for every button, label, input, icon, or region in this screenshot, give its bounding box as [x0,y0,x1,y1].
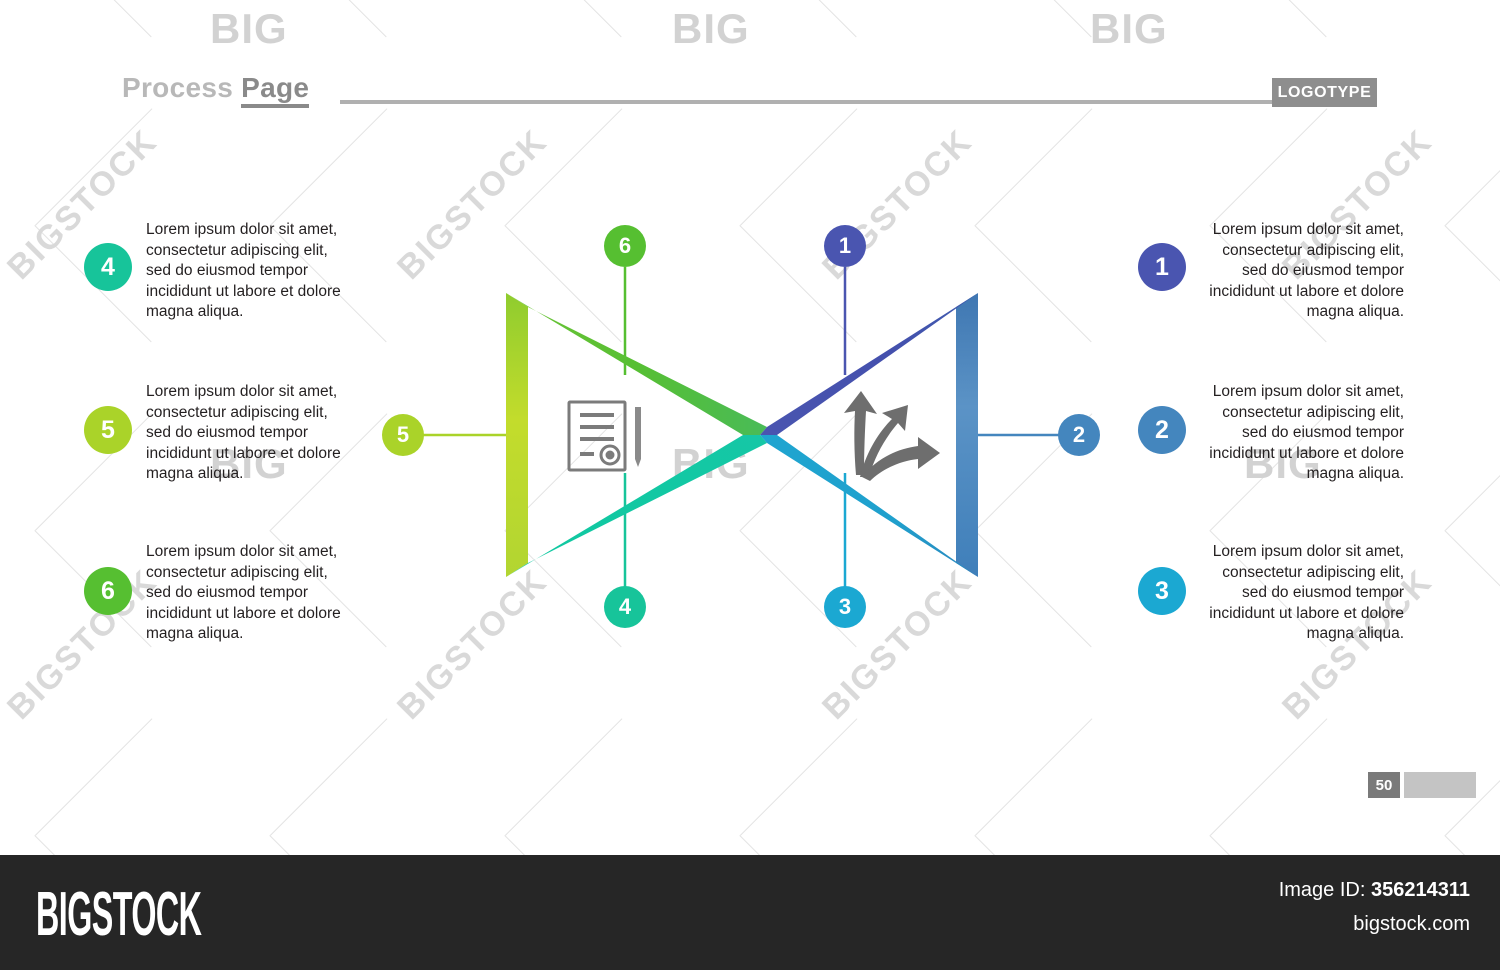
watermark-line [1444,225,1500,342]
diagram-marker-2[interactable]: 2 [1058,414,1100,456]
process-bowtie-diagram: 6 1 5 2 4 3 [330,215,1170,645]
watermark-line [34,0,151,37]
watermark-big: BIG [1090,5,1168,53]
watermark-line [1444,0,1500,37]
left-vertical-bar [506,293,528,577]
bigstock-logo: BIGSTOCK [36,879,201,950]
page-number-bar [1404,772,1476,798]
page-title-part1: Process [122,72,241,103]
slide-header: Process Page [122,72,1380,114]
header-divider [340,100,1367,104]
watermark-line [975,108,1092,225]
site-url: bigstock.com [1353,913,1470,936]
logotype-badge: LOGOTYPE [1272,78,1377,107]
watermark-line [35,108,152,225]
badge-number-4[interactable]: 4 [84,243,132,291]
watermark-bigstock: BIGSTOCK [0,562,165,727]
watermark-line [739,835,856,855]
watermark-line [1209,835,1326,855]
page-title: Process Page [122,72,309,104]
stock-footer: BIGSTOCK Image ID: 356214311 bigstock.co… [0,855,1500,970]
image-id-label: Image ID: [1279,879,1371,901]
slide-content: BIGBIGBIGBIGBIGBIGBIGSTOCKBIGSTOCKBIGSTO… [0,0,1500,855]
image-id-value: 356214311 [1371,879,1470,901]
watermark-line [740,718,857,835]
watermark-line [34,835,151,855]
page-title-part2: Page [241,72,309,108]
watermark-big: BIG [210,5,288,53]
diagram-marker-5[interactable]: 5 [382,414,424,456]
watermark-line [35,718,152,835]
watermark-line [1444,835,1500,855]
watermark-line [1445,413,1500,530]
watermark-line [974,835,1091,855]
watermark-line [1210,108,1327,225]
right-vertical-bar [956,293,978,577]
watermark-line [269,0,386,37]
diagram-marker-6[interactable]: 6 [604,225,646,267]
watermark-line [1210,718,1327,835]
watermark-line [505,108,622,225]
watermark-line [740,108,857,225]
watermark-line [739,0,856,37]
watermark-bigstock: BIGSTOCK [0,122,165,287]
watermark-line [1445,108,1500,225]
diagram-marker-3[interactable]: 3 [824,586,866,628]
bowtie-svg [330,215,1170,645]
watermark-line [1209,0,1326,37]
right-top-edge [760,293,978,435]
diverging-arrows-icon [844,391,940,481]
image-id: Image ID: 356214311 [1279,879,1470,902]
watermark-line [504,835,621,855]
watermark-line [505,718,622,835]
watermark-line [269,835,386,855]
slide-canvas: BIGBIGBIGBIGBIGBIGBIGSTOCKBIGSTOCKBIGSTO… [0,0,1500,970]
watermark-line [270,108,387,225]
watermark-line [504,0,621,37]
page-number-indicator: 50 [1368,772,1476,798]
page-number-value: 50 [1368,772,1400,798]
diagram-marker-4[interactable]: 4 [604,586,646,628]
watermark-line [975,718,1092,835]
badge-number-5[interactable]: 5 [84,406,132,454]
badge-number-6[interactable]: 6 [84,567,132,615]
watermark-line [974,0,1091,37]
watermark-line [270,718,387,835]
diagram-marker-1[interactable]: 1 [824,225,866,267]
watermark-big: BIG [672,5,750,53]
watermark-line [1444,530,1500,647]
certificate-document-icon [569,402,641,470]
